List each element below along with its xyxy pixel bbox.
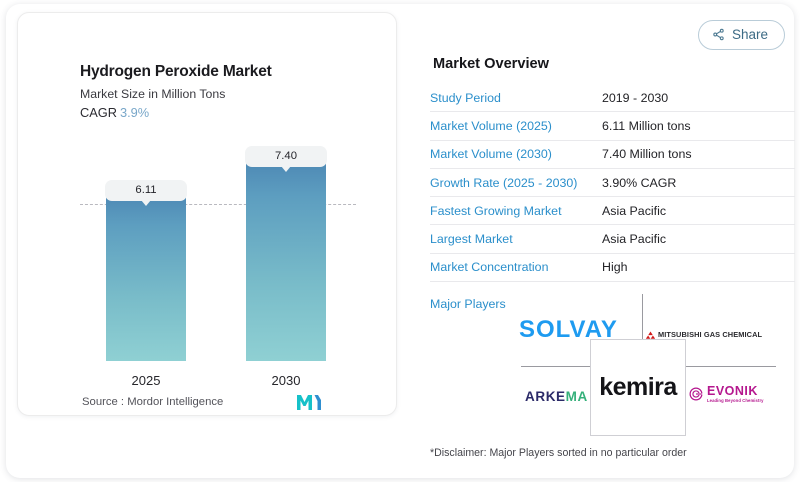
kemira-logo: kemira xyxy=(590,339,686,436)
bar-2030 xyxy=(246,161,326,361)
row-value: Asia Pacific xyxy=(602,232,666,246)
major-players-logos: SOLVAY MITSUBISHI GAS CHEMICAL ARKEMA ke… xyxy=(511,294,776,434)
evonik-tagline: Leading Beyond Chemistry xyxy=(707,398,764,403)
row-key: Market Volume (2025) xyxy=(430,119,602,133)
chart-card: Hydrogen Peroxide Market Market Size in … xyxy=(17,12,397,416)
chart-source: Source : Mordor Intelligence xyxy=(82,396,223,408)
evonik-text-block: EVONIK Leading Beyond Chemistry xyxy=(707,384,764,403)
row-key: Largest Market xyxy=(430,232,602,246)
cagr-value: 3.9% xyxy=(120,105,149,120)
row-key: Market Volume (2030) xyxy=(430,147,602,161)
evonik-mark-icon xyxy=(689,387,703,401)
row-key: Market Concentration xyxy=(430,260,602,274)
table-row: Fastest Growing Market Asia Pacific xyxy=(430,197,795,225)
row-value: High xyxy=(602,260,627,274)
row-key: Study Period xyxy=(430,91,602,105)
chart-title: Hydrogen Peroxide Market xyxy=(80,63,272,81)
share-button[interactable]: Share xyxy=(698,20,785,50)
x-axis-label-2030: 2030 xyxy=(246,373,326,388)
report-card: Hydrogen Peroxide Market Market Size in … xyxy=(6,4,794,478)
row-key: Growth Rate (2025 - 2030) xyxy=(430,176,602,190)
row-value: 7.40 Million tons xyxy=(602,147,692,161)
row-key: Fastest Growing Market xyxy=(430,204,602,218)
arkema-logo-part1: ARKE xyxy=(525,389,566,404)
x-axis-label-2025: 2025 xyxy=(106,373,186,388)
row-value: 3.90% CAGR xyxy=(602,176,676,190)
share-nodes-icon xyxy=(712,28,725,41)
evonik-logo-label: EVONIK xyxy=(707,384,764,398)
bar-2025 xyxy=(106,195,186,361)
table-row: Study Period 2019 - 2030 xyxy=(430,84,795,112)
bar-value-label-2025: 6.11 xyxy=(105,180,187,201)
table-row: Growth Rate (2025 - 2030) 3.90% CAGR xyxy=(430,169,795,197)
mitsubishi-gas-chemical-label: MITSUBISHI GAS CHEMICAL xyxy=(658,330,762,339)
mitsubishi-diamond-icon xyxy=(646,331,655,339)
bar-value-label-2030: 7.40 xyxy=(245,146,327,167)
market-overview-title: Market Overview xyxy=(433,56,549,72)
row-value: Asia Pacific xyxy=(602,204,666,218)
row-value: 2019 - 2030 xyxy=(602,91,668,105)
table-row: Largest Market Asia Pacific xyxy=(430,225,795,253)
mitsubishi-gas-chemical-logo: MITSUBISHI GAS CHEMICAL xyxy=(646,330,762,339)
arkema-logo-part2: MA xyxy=(566,389,588,404)
row-value: 6.11 Million tons xyxy=(602,119,691,133)
share-button-label: Share xyxy=(732,27,768,42)
chart-subtitle: Market Size in Million Tons xyxy=(80,87,225,101)
table-row: Market Volume (2025) 6.11 Million tons xyxy=(430,112,795,140)
evonik-logo: EVONIK Leading Beyond Chemistry xyxy=(689,384,764,403)
disclaimer-text: *Disclaimer: Major Players sorted in no … xyxy=(430,447,687,459)
table-row: Market Volume (2030) 7.40 Million tons xyxy=(430,141,795,169)
kemira-logo-label: kemira xyxy=(599,373,677,402)
arkema-logo: ARKEMA xyxy=(525,389,588,404)
chart-cagr: CAGR3.9% xyxy=(80,105,149,120)
market-overview-table: Study Period 2019 - 2030 Market Volume (… xyxy=(430,84,795,282)
table-row: Market Concentration High xyxy=(430,254,795,282)
cagr-label: CAGR xyxy=(80,105,117,120)
mordor-intelligence-logo xyxy=(296,393,322,411)
major-players-label: Major Players xyxy=(430,297,506,311)
